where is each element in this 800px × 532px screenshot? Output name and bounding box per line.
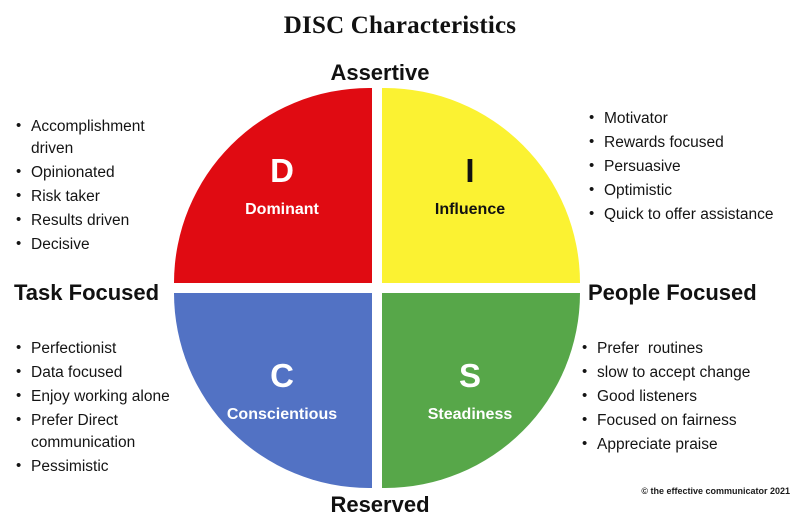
quadrant-conscientious-letter: C (192, 358, 372, 394)
disc-wheel: D Dominant I Influence C Conscientious S… (174, 88, 580, 488)
list-item: Appreciate praise (582, 434, 792, 456)
trait-list-steadiness: Prefer routines slow to accept change Go… (582, 338, 792, 458)
quadrant-steadiness-content: S Steadiness (382, 358, 558, 424)
quadrant-steadiness[interactable]: S Steadiness (382, 293, 580, 488)
quadrant-conscientious-name: Conscientious (192, 406, 372, 424)
quadrant-dominant-content: D Dominant (192, 153, 372, 219)
quadrant-influence[interactable]: I Influence (382, 88, 580, 283)
list-item: Prefer routines (582, 338, 792, 360)
list-item: Results driven (16, 210, 181, 232)
list-item: Optimistic (589, 180, 789, 202)
quadrant-influence-letter: I (382, 153, 558, 189)
list-item: slow to accept change (582, 362, 792, 384)
axis-label-task-focused: Task Focused (14, 280, 159, 306)
list-item: Accomplishment driven (16, 116, 181, 159)
list-item: Opinionated (16, 162, 181, 184)
list-item: Persuasive (589, 156, 789, 178)
list-item: Pessimistic (16, 456, 191, 478)
quadrant-dominant-letter: D (192, 153, 372, 189)
page-title: DISC Characteristics (0, 12, 800, 40)
list-item: Quick to offer assistance (589, 204, 789, 226)
quadrant-influence-name: Influence (382, 201, 558, 219)
axis-label-people-focused: People Focused (588, 280, 757, 306)
list-item: Rewards focused (589, 132, 789, 154)
list-item: Risk taker (16, 186, 181, 208)
list-item: Good listeners (582, 386, 792, 408)
list-item: Focused on fairness (582, 410, 792, 432)
list-item: Perfectionist (16, 338, 191, 360)
list-item: Motivator (589, 108, 789, 130)
trait-list-dominant: Accomplishment driven Opinionated Risk t… (16, 116, 181, 258)
copyright-credit: © the effective communicator 2021 (641, 486, 790, 496)
list-item: Prefer Direct communication (16, 410, 191, 453)
quadrant-steadiness-letter: S (382, 358, 558, 394)
quadrant-influence-content: I Influence (382, 153, 558, 219)
quadrant-steadiness-name: Steadiness (382, 406, 558, 424)
quadrant-dominant-name: Dominant (192, 201, 372, 219)
list-item: Data focused (16, 362, 191, 384)
axis-label-assertive: Assertive (0, 60, 760, 86)
trait-list-conscientious: Perfectionist Data focused Enjoy working… (16, 338, 191, 480)
list-item: Enjoy working alone (16, 386, 191, 408)
list-item: Decisive (16, 234, 181, 256)
quadrant-conscientious[interactable]: C Conscientious (174, 293, 372, 488)
disc-diagram: DISC Characteristics Assertive Reserved … (0, 0, 800, 532)
quadrant-dominant[interactable]: D Dominant (174, 88, 372, 283)
trait-list-influence: Motivator Rewards focused Persuasive Opt… (589, 108, 789, 228)
quadrant-conscientious-content: C Conscientious (192, 358, 372, 424)
